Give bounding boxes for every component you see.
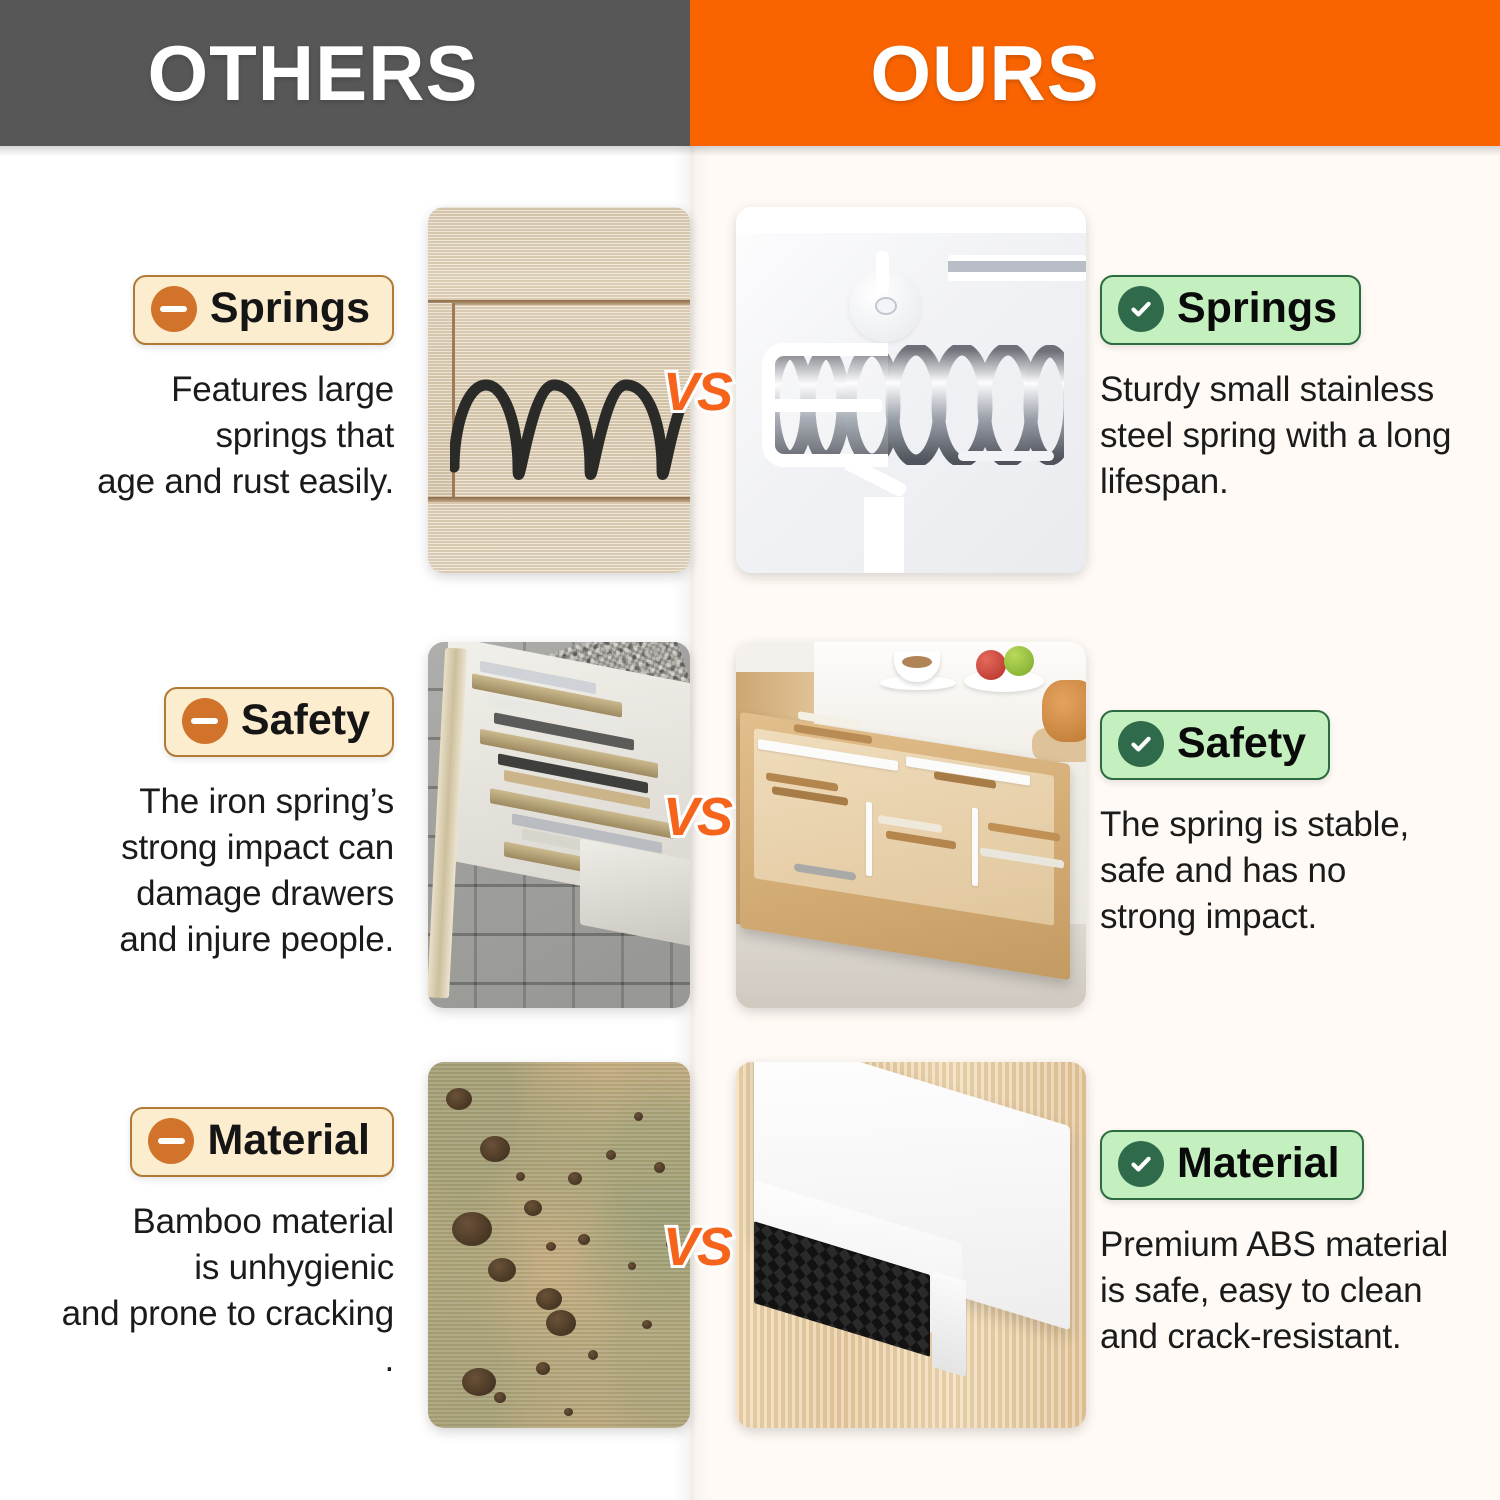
description-line: Features large	[97, 367, 394, 413]
badge-label: Safety	[241, 698, 370, 743]
check-circle-icon	[1118, 286, 1164, 332]
badge-others-safety: Safety	[164, 687, 394, 757]
header-bar: OTHERS OURS	[0, 0, 1500, 146]
row-springs-left-text: Springs Features large springs that age …	[0, 275, 400, 506]
description-line: strong impact.	[1100, 894, 1409, 940]
badge-label: Safety	[1177, 721, 1306, 766]
description-line: and prone to cracking	[62, 1291, 394, 1337]
description-line-trailing-period: .	[62, 1337, 394, 1383]
header-ours-title: OURS	[870, 34, 1099, 112]
row-safety-right-text: Safety The spring is stable, safe and ha…	[1086, 710, 1500, 941]
comparison-row-springs: Springs Features large springs that age …	[0, 190, 1500, 590]
bamboo-panel-wave-spring-photo	[428, 207, 690, 573]
row-springs-right-text: Springs Sturdy small stainless steel spr…	[1086, 275, 1500, 506]
messy-utensil-drawer-photo	[428, 642, 690, 1008]
description-line: Bamboo material	[62, 1199, 394, 1245]
row-springs-left-side: Springs Features large springs that age …	[0, 190, 690, 590]
description-line: damage drawers	[119, 871, 394, 917]
comparison-row-material: Material Bamboo material is unhygienic a…	[0, 1045, 1500, 1445]
row-safety-left-description: The iron spring’s strong impact can dama…	[119, 779, 394, 964]
badge-label: Springs	[210, 286, 370, 331]
wave-spring-shape	[450, 319, 690, 489]
row-material-left-description: Bamboo material is unhygienic and prone …	[62, 1199, 394, 1384]
description-line: and crack-resistant.	[1100, 1314, 1448, 1360]
comparison-infographic: OTHERS OURS Springs Features large sprin…	[0, 0, 1500, 1500]
description-line: is safe, easy to clean	[1100, 1268, 1448, 1314]
row-safety-left-side: Safety The iron spring’s strong impact c…	[0, 625, 690, 1025]
row-springs-left-description: Features large springs that age and rust…	[97, 367, 394, 506]
row-material-left-text: Material Bamboo material is unhygienic a…	[0, 1107, 400, 1384]
minus-circle-icon	[182, 698, 228, 744]
description-line: Premium ABS material	[1100, 1222, 1448, 1268]
badge-ours-material: Material	[1100, 1130, 1364, 1200]
row-safety-left-text: Safety The iron spring’s strong impact c…	[0, 687, 400, 964]
row-material-right-side: Material Premium ABS material is safe, e…	[690, 1045, 1500, 1445]
check-circle-icon	[1118, 1141, 1164, 1187]
comparison-row-safety: Safety The iron spring’s strong impact c…	[0, 625, 1500, 1025]
badge-others-springs: Springs	[133, 275, 394, 345]
moldy-bamboo-board-photo	[428, 1062, 690, 1428]
description-line: age and rust easily.	[97, 459, 394, 505]
badge-ours-springs: Springs	[1100, 275, 1361, 345]
description-line: and injure people.	[119, 917, 394, 963]
row-safety-right-description: The spring is stable, safe and has no st…	[1100, 802, 1409, 941]
row-springs-right-side: Springs Sturdy small stainless steel spr…	[690, 190, 1500, 590]
vs-separator-springs: VS	[663, 365, 731, 419]
row-material-left-side: Material Bamboo material is unhygienic a…	[0, 1045, 690, 1445]
white-abs-drawer-organizer-photo	[736, 1062, 1086, 1428]
minus-circle-icon	[151, 286, 197, 332]
badge-others-material: Material	[130, 1107, 394, 1177]
row-material-right-description: Premium ABS material is safe, easy to cl…	[1100, 1222, 1448, 1361]
row-springs-right-description: Sturdy small stainless steel spring with…	[1100, 367, 1451, 506]
description-line: Sturdy small stainless	[1100, 367, 1451, 413]
badge-label: Springs	[1177, 286, 1337, 331]
organized-kitchen-drawer-photo	[736, 642, 1086, 1008]
description-line: safe and has no	[1100, 848, 1409, 894]
vs-separator-material: VS	[663, 1220, 731, 1274]
description-line: lifespan.	[1100, 459, 1451, 505]
vs-separator-safety: VS	[663, 790, 731, 844]
check-circle-icon	[1118, 721, 1164, 767]
white-mechanism-steel-coil-spring-photo	[736, 207, 1086, 573]
description-line: steel spring with a long	[1100, 413, 1451, 459]
header-ours-panel: OURS	[690, 0, 1500, 146]
badge-label: Material	[207, 1118, 370, 1163]
header-others-title: OTHERS	[147, 34, 478, 112]
badge-label: Material	[1177, 1141, 1340, 1186]
description-line: is unhygienic	[62, 1245, 394, 1291]
description-line: strong impact can	[119, 825, 394, 871]
header-others-panel: OTHERS	[0, 0, 690, 146]
description-line: The iron spring’s	[119, 779, 394, 825]
minus-circle-icon	[148, 1118, 194, 1164]
row-safety-right-side: Safety The spring is stable, safe and ha…	[690, 625, 1500, 1025]
row-material-right-text: Material Premium ABS material is safe, e…	[1086, 1130, 1500, 1361]
description-line: The spring is stable,	[1100, 802, 1409, 848]
description-line: springs that	[97, 413, 394, 459]
badge-ours-safety: Safety	[1100, 710, 1330, 780]
